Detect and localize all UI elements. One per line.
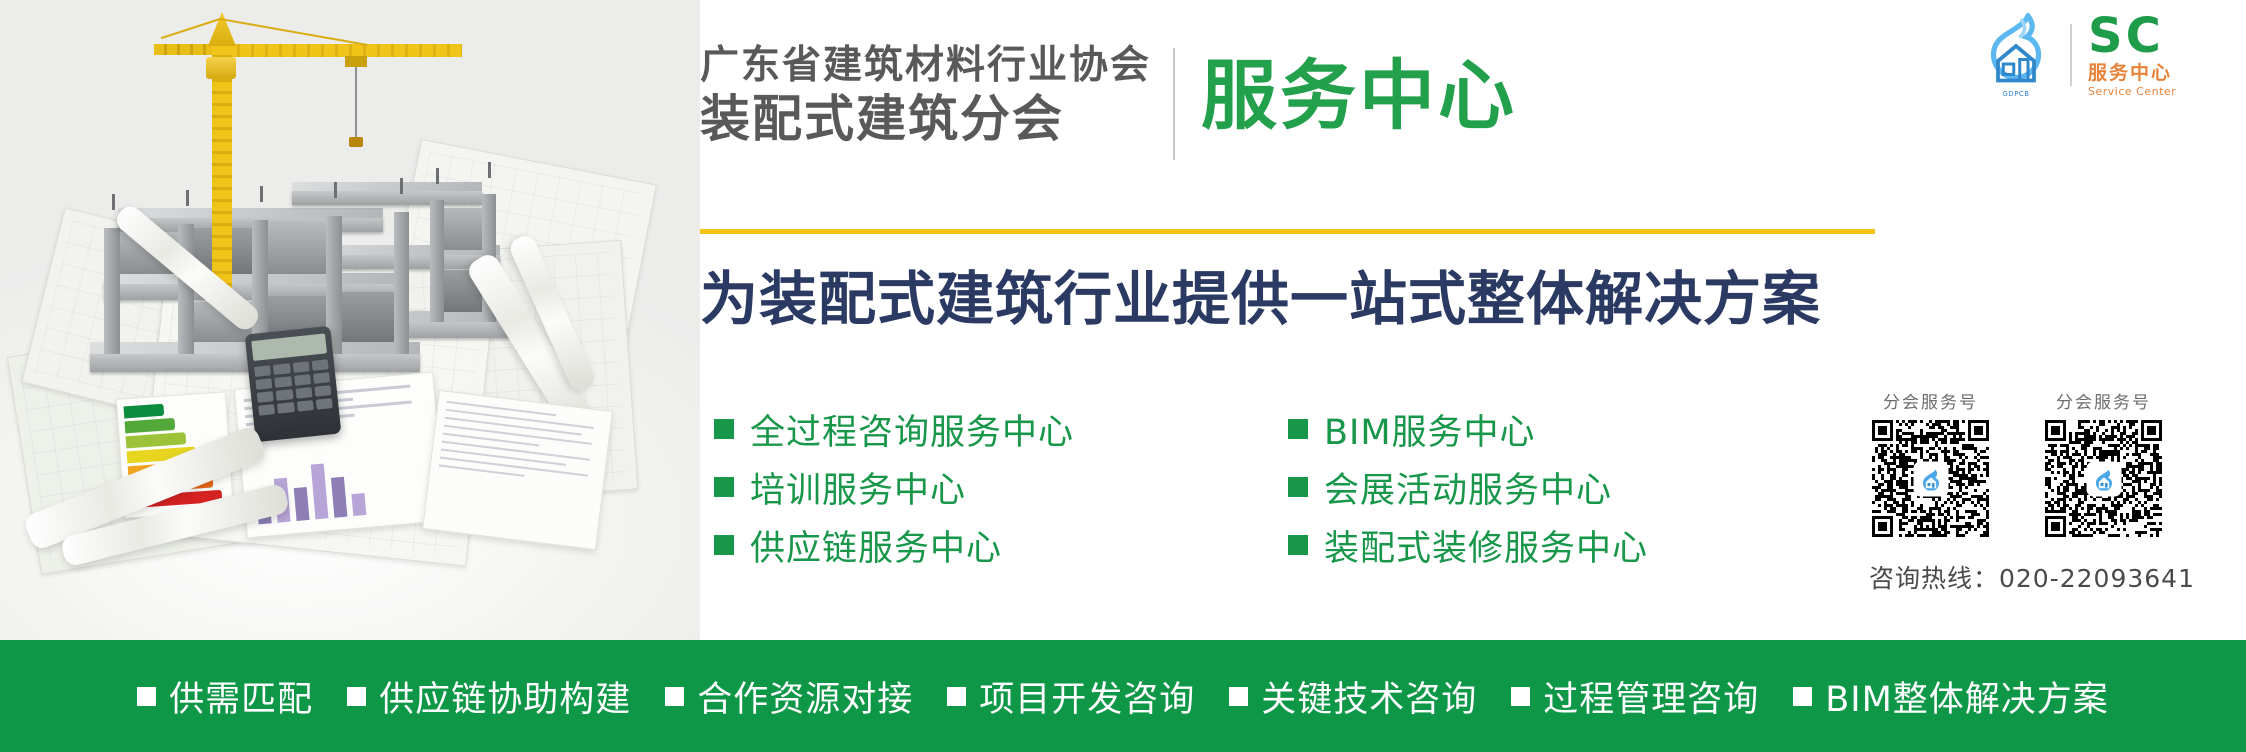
header-vertical-divider <box>1173 48 1175 160</box>
service-item-label: BIM服务中心 <box>1324 404 1536 455</box>
filled-square-icon <box>665 687 684 706</box>
service-item-label: 全过程咨询服务中心 <box>750 404 1074 455</box>
qr-caption: 分会服务号 <box>2036 388 2171 413</box>
footer-tag[interactable]: BIM整体解决方案 <box>1793 671 2109 722</box>
filled-square-icon <box>1288 419 1308 439</box>
brand-abbr: SC <box>2088 12 2176 60</box>
house-flame-icon <box>2088 463 2119 494</box>
footer-tag-label: 供应链协助构建 <box>379 671 631 722</box>
qr-caption: 分会服务号 <box>1863 388 1998 413</box>
header-title-row: 广东省建筑材料行业协会 装配式建筑分会 服务中心 <box>700 44 1517 160</box>
filled-square-icon <box>137 687 156 706</box>
filled-square-icon <box>1793 687 1812 706</box>
brand-divider <box>2070 24 2072 86</box>
filled-square-icon <box>347 687 366 706</box>
filled-square-icon <box>1511 687 1530 706</box>
qr-code-icon[interactable] <box>1872 420 1989 537</box>
footer-tag-label: 供需匹配 <box>169 671 313 722</box>
association-name-line1: 广东省建筑材料行业协会 <box>700 44 1151 89</box>
footer-tag[interactable]: 关键技术咨询 <box>1229 671 1477 722</box>
banner-root: 广东省建筑材料行业协会 装配式建筑分会 服务中心 为装配式建筑行业提供一站式整体… <box>0 0 2246 752</box>
brand-mark-caption: GDPCB <box>1978 90 2054 98</box>
brand-name-cn: 服务中心 <box>2088 64 2176 83</box>
filled-square-icon <box>1288 535 1308 555</box>
filled-square-icon <box>714 535 734 555</box>
hero-illustration <box>0 0 700 640</box>
filled-square-icon <box>714 419 734 439</box>
footer-tag-label: 项目开发咨询 <box>979 671 1195 722</box>
footer-tag[interactable]: 过程管理咨询 <box>1511 671 1759 722</box>
service-item-label: 装配式装修服务中心 <box>1324 520 1648 571</box>
service-list-left: 全过程咨询服务中心 培训服务中心 供应链服务中心 <box>714 400 1074 574</box>
service-item[interactable]: BIM服务中心 <box>1288 400 1648 458</box>
qr-code-icon[interactable] <box>2045 420 2162 537</box>
brand-logo: GDPCB SC 服务中心 Service Center <box>1978 12 2176 97</box>
service-item-label: 培训服务中心 <box>750 462 966 513</box>
brand-name-en: Service Center <box>2088 86 2176 97</box>
filled-square-icon <box>947 687 966 706</box>
service-item-label: 供应链服务中心 <box>750 520 1002 571</box>
filled-square-icon <box>1288 477 1308 497</box>
qr-card[interactable]: 分会服务号 <box>1863 388 1998 537</box>
service-item[interactable]: 装配式装修服务中心 <box>1288 516 1648 574</box>
brand-wordmark: SC 服务中心 Service Center <box>2088 12 2176 97</box>
footer-tag[interactable]: 供应链协助构建 <box>347 671 631 722</box>
footer-tag-label: 过程管理咨询 <box>1543 671 1759 722</box>
footer-bar: 供需匹配 供应链协助构建 合作资源对接 项目开发咨询 关键技术咨询 过程管理咨询 <box>0 640 2246 752</box>
qr-card[interactable]: 分会服务号 <box>2036 388 2171 537</box>
footer-tag-label: 关键技术咨询 <box>1261 671 1477 722</box>
house-flame-icon <box>1915 463 1946 494</box>
service-list-right: BIM服务中心 会展活动服务中心 装配式装修服务中心 <box>1288 400 1648 574</box>
hotline-text: 咨询热线：020-22093641 <box>1869 559 2243 595</box>
footer-tag[interactable]: 供需匹配 <box>137 671 313 722</box>
association-name: 广东省建筑材料行业协会 装配式建筑分会 <box>700 44 1151 147</box>
house-flame-icon: GDPCB <box>1978 13 2054 97</box>
filled-square-icon <box>1229 687 1248 706</box>
footer-tag-label: 合作资源对接 <box>697 671 913 722</box>
footer-tag[interactable]: 合作资源对接 <box>665 671 913 722</box>
calculator-icon <box>245 326 342 442</box>
service-item[interactable]: 会展活动服务中心 <box>1288 458 1648 516</box>
gold-divider <box>700 229 1875 234</box>
service-item[interactable]: 培训服务中心 <box>714 458 1074 516</box>
footer-tag-list: 供需匹配 供应链协助构建 合作资源对接 项目开发咨询 关键技术咨询 过程管理咨询 <box>137 671 2109 722</box>
footer-tag-label: BIM整体解决方案 <box>1825 671 2109 722</box>
qr-block: 分会服务号 分会服务号 <box>1863 388 2243 595</box>
service-center-title: 服务中心 <box>1201 58 1517 134</box>
association-name-line2: 装配式建筑分会 <box>700 91 1151 147</box>
content-area: 广东省建筑材料行业协会 装配式建筑分会 服务中心 为装配式建筑行业提供一站式整体… <box>700 0 2246 640</box>
service-item[interactable]: 全过程咨询服务中心 <box>714 400 1074 458</box>
filled-square-icon <box>714 477 734 497</box>
service-item-label: 会展活动服务中心 <box>1324 462 1612 513</box>
main-slogan: 为装配式建筑行业提供一站式整体解决方案 <box>700 252 1821 336</box>
service-item[interactable]: 供应链服务中心 <box>714 516 1074 574</box>
footer-tag[interactable]: 项目开发咨询 <box>947 671 1195 722</box>
spec-sheet-document <box>422 390 613 550</box>
